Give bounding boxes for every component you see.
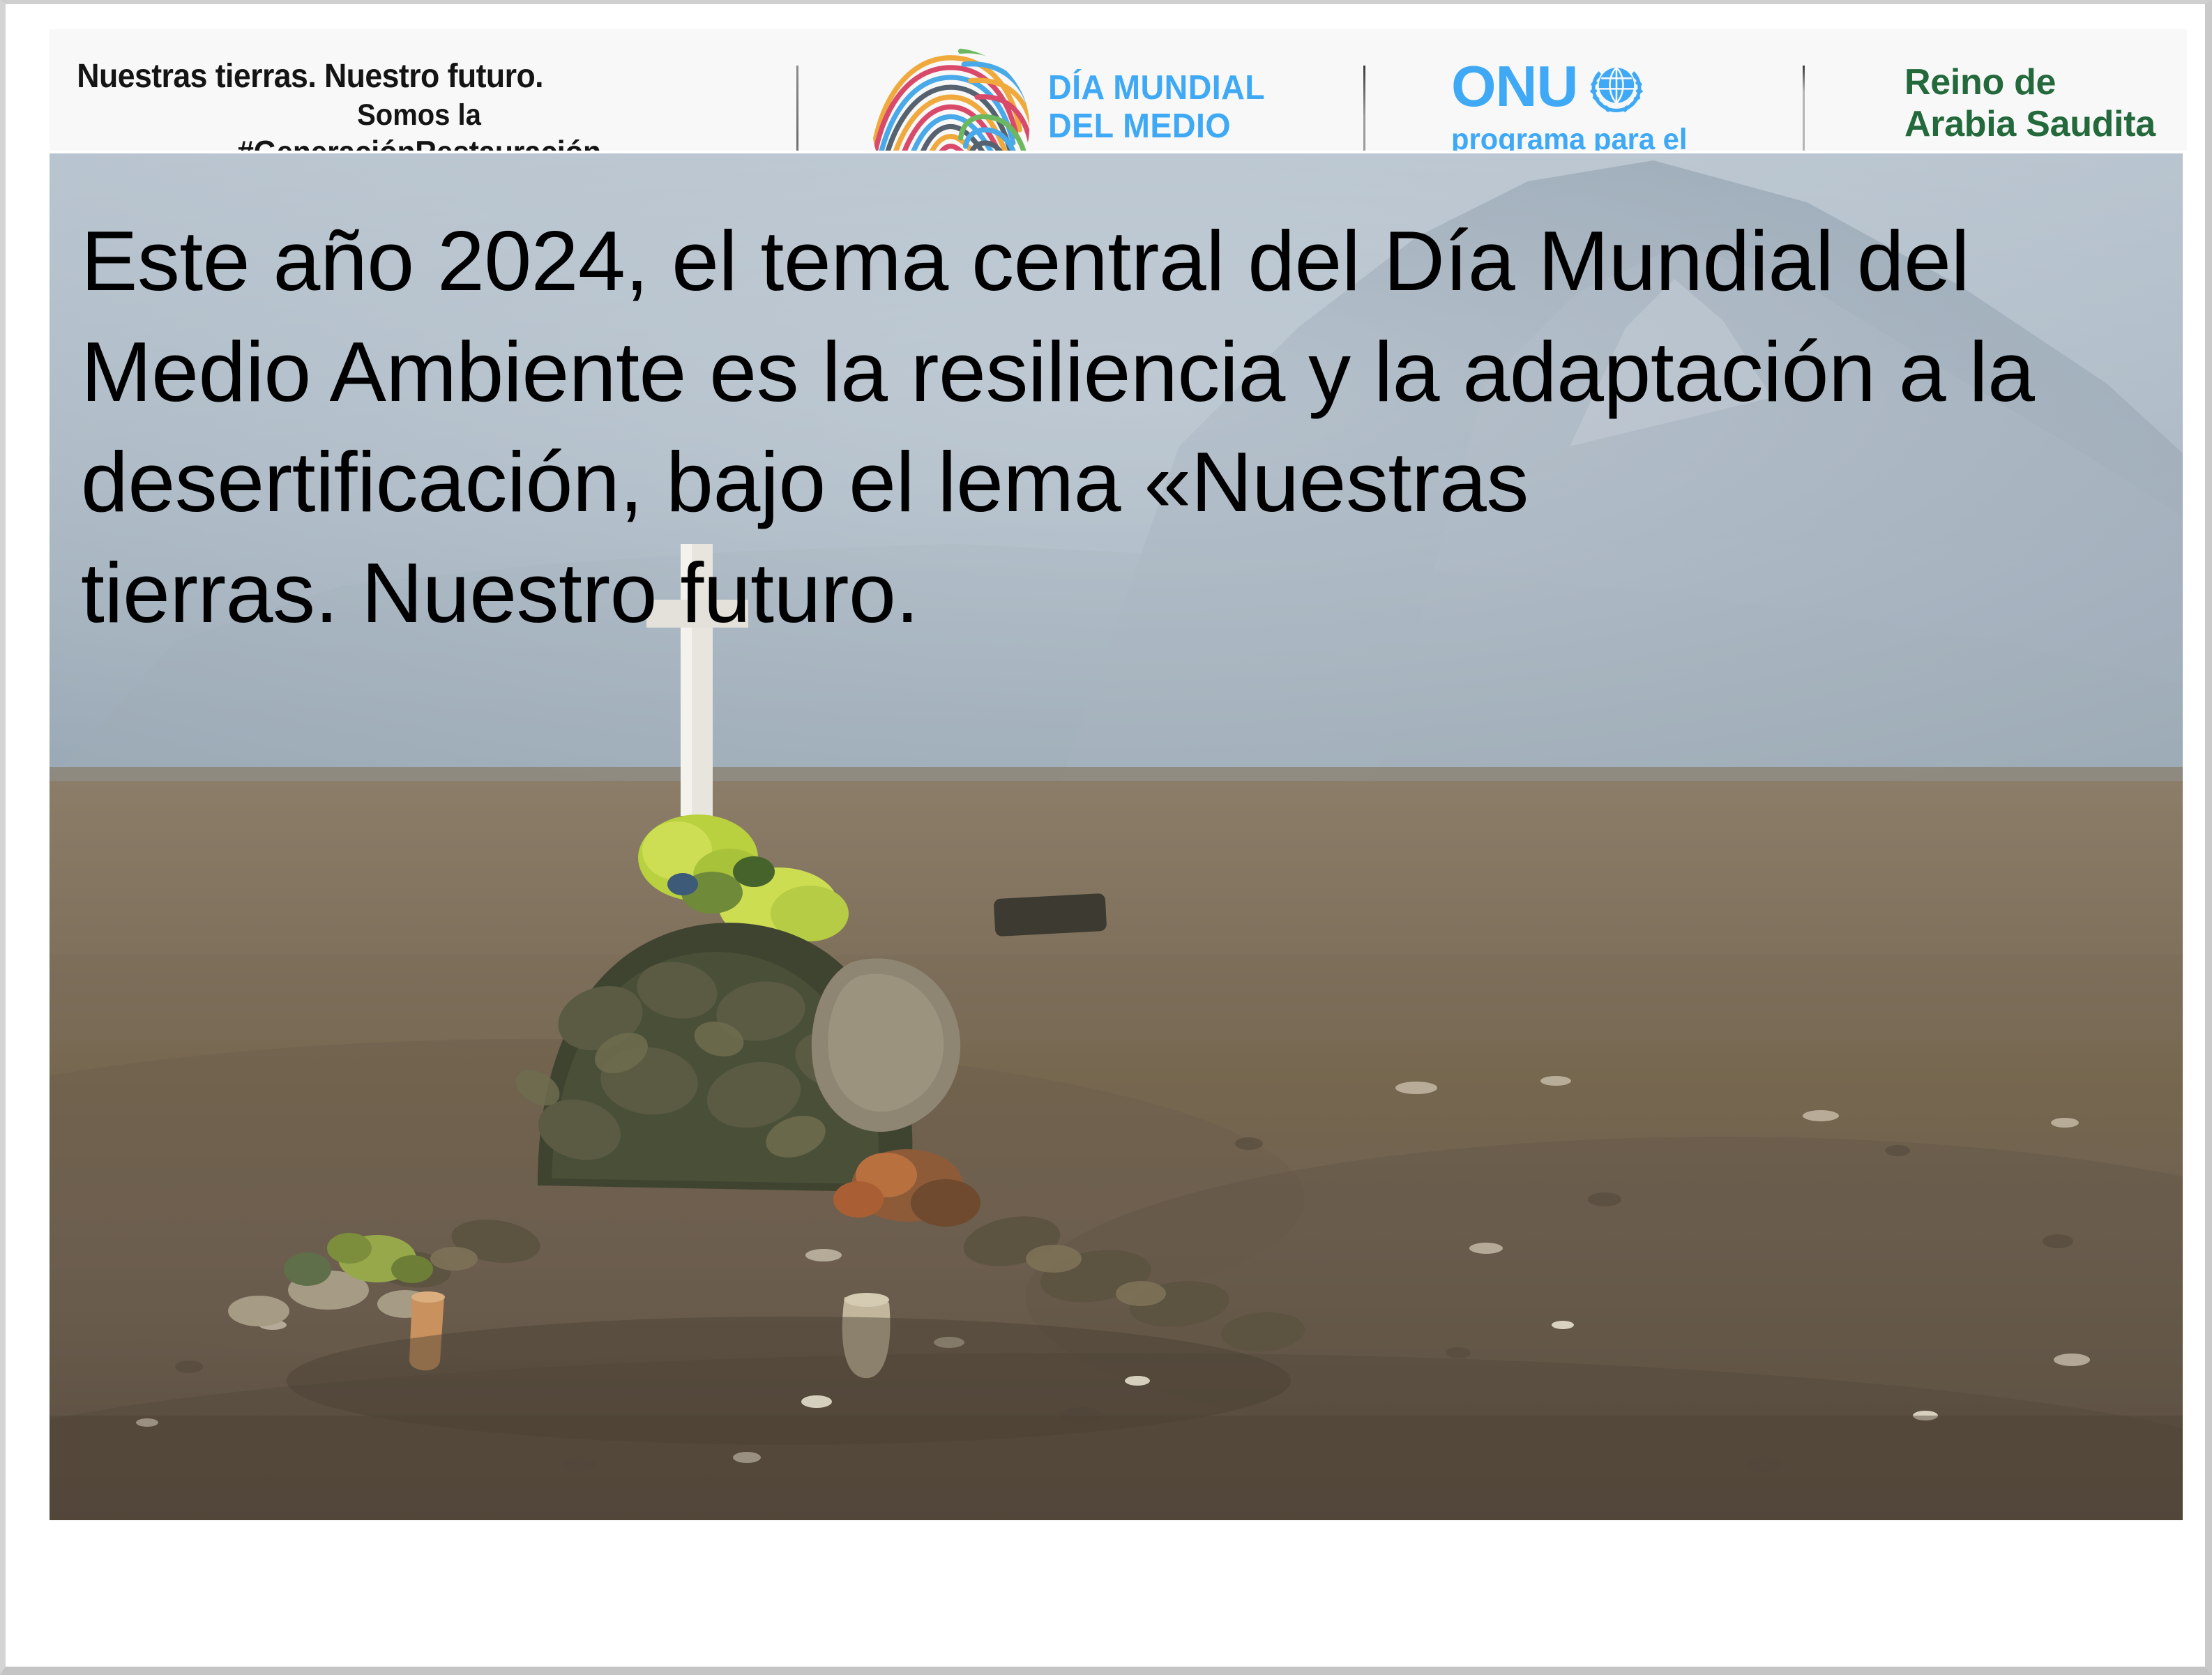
unep-subtitle-line-1: programa para el xyxy=(1451,123,1769,151)
slogan-line-2: Somos la xyxy=(95,97,743,133)
photo-caption-text: Este año 2024, el tema central del Día M… xyxy=(81,206,2166,648)
world-environment-day-logo: DÍA MUNDIAL DEL MEDIO AMBIENTE xyxy=(869,45,1277,151)
slogan-hashtag: #GeneraciónRestauración xyxy=(95,133,743,151)
unep-acronym: ONU xyxy=(1451,59,1577,114)
world-environment-day-wordmark: DÍA MUNDIAL DEL MEDIO AMBIENTE xyxy=(1048,69,1265,151)
slide-frame: Nuestras tierras. Nuestro futuro. Somos … xyxy=(0,0,2212,1675)
wed-line-3: AMBIENTE xyxy=(1048,146,1265,151)
unep-subtitle: programa para el medio ambiente xyxy=(1451,123,1769,151)
slogan-line-1: Nuestras tierras. Nuestro futuro. xyxy=(70,57,719,97)
hero-photo: Este año 2024, el tema central del Día M… xyxy=(50,153,2183,1520)
un-emblem-icon xyxy=(1587,57,1646,116)
vertical-divider-icon xyxy=(1803,66,1805,151)
fingerprint-logo-icon xyxy=(869,45,1033,151)
header-logo-band: Nuestras tierras. Nuestro futuro. Somos … xyxy=(50,29,2187,151)
slide-inner: Nuestras tierras. Nuestro futuro. Somos … xyxy=(21,17,2187,1650)
host-country-block: Reino de Arabia Saudita 2024 xyxy=(1904,61,2156,151)
vertical-divider-icon xyxy=(1363,66,1365,151)
vertical-divider-icon xyxy=(796,66,798,151)
campaign-slogan: Nuestras tierras. Nuestro futuro. Somos … xyxy=(70,57,768,151)
host-line-1: Reino de xyxy=(1904,61,2156,103)
host-line-2: Arabia Saudita xyxy=(1904,103,2156,145)
wed-line-2: DEL MEDIO xyxy=(1048,107,1265,146)
wed-line-1: DÍA MUNDIAL xyxy=(1048,69,1265,107)
unep-top-row: ONU xyxy=(1451,57,1779,116)
host-country-name: Reino de Arabia Saudita xyxy=(1904,61,2156,146)
unep-logo: ONU xyxy=(1451,57,1779,151)
